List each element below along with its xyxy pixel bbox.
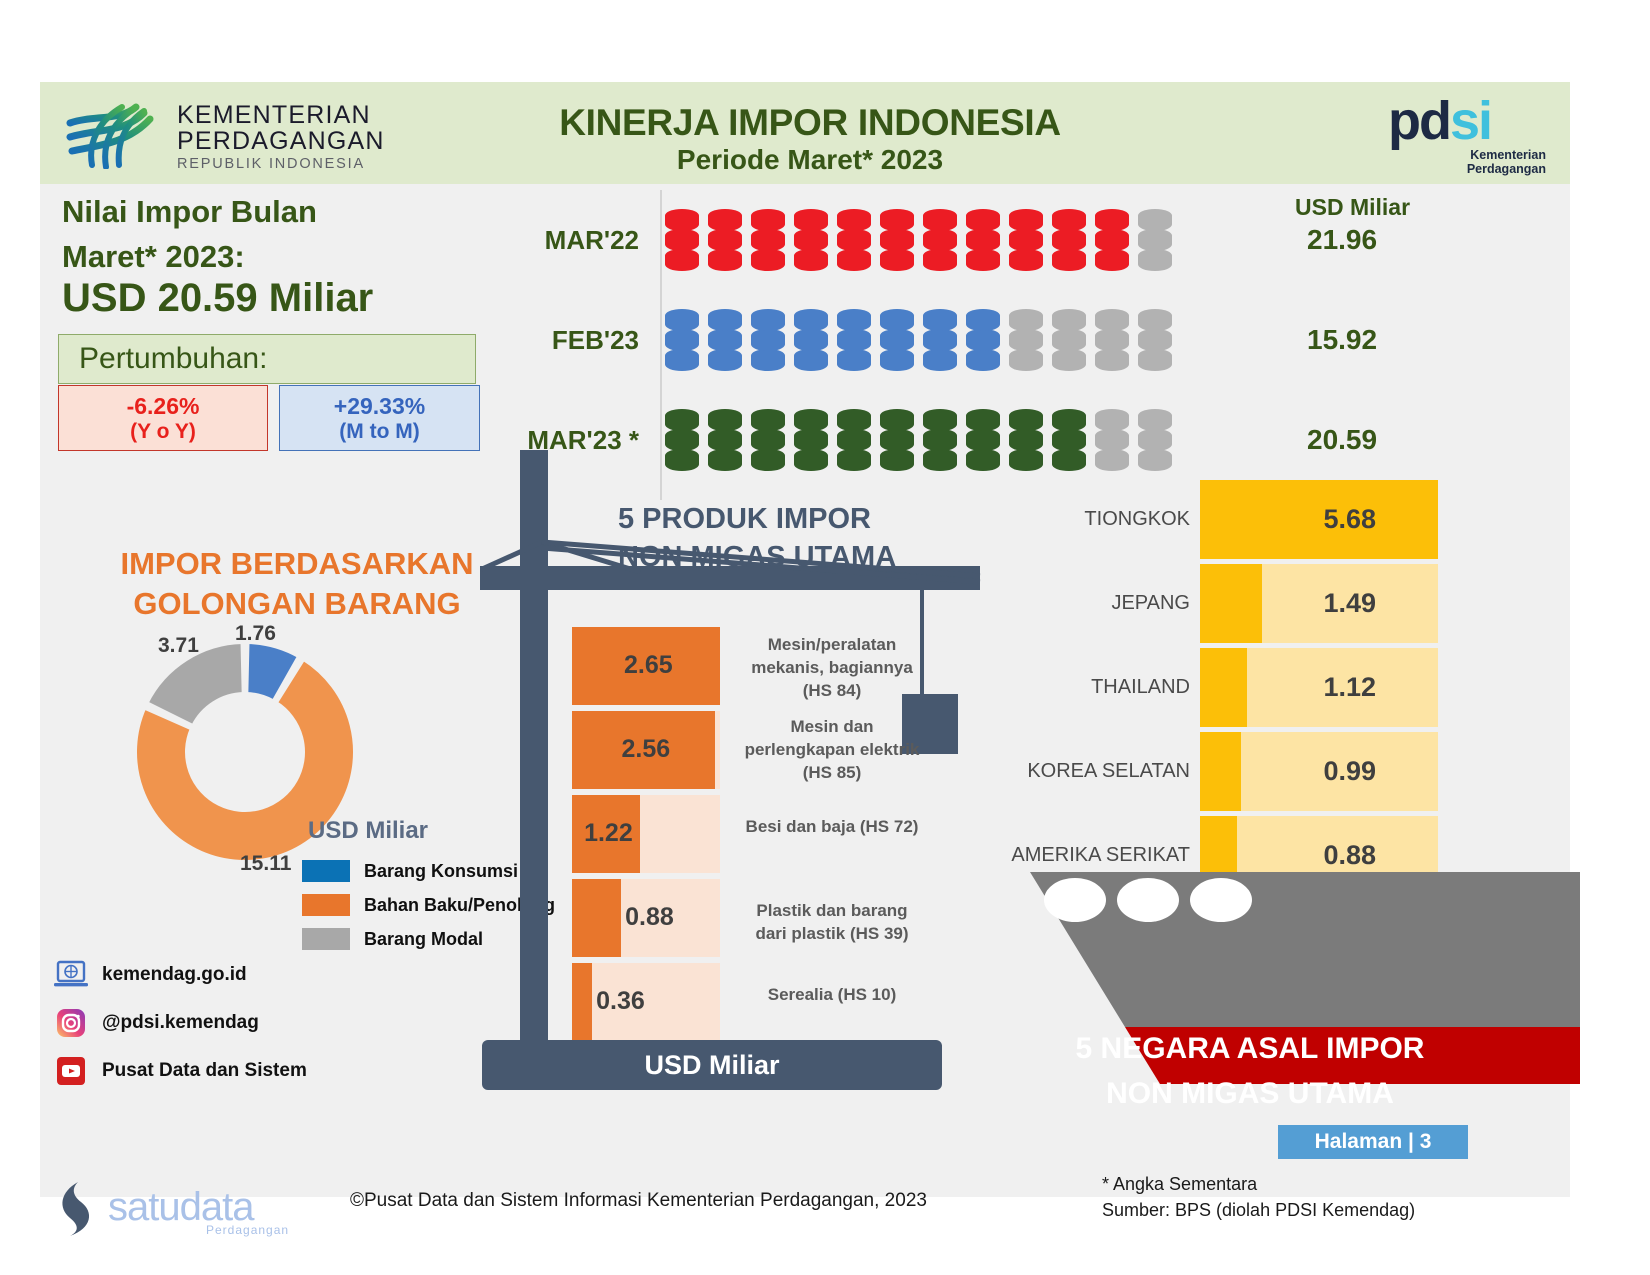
product-bar-label: Plastik dan barang dari plastik (HS 39) xyxy=(742,899,922,945)
barrel-icon xyxy=(1095,409,1129,471)
barrel-icon xyxy=(1009,409,1043,471)
barrel-icon xyxy=(966,309,1000,371)
barrel-group xyxy=(665,309,1285,371)
donut-label-konsumsi: 1.76 xyxy=(235,622,276,646)
barrel-icon xyxy=(665,309,699,371)
products-title-line2: NON MIGAS UTAMA xyxy=(618,538,998,576)
legend-swatch xyxy=(302,894,350,916)
barrel-row-value: 21.96 xyxy=(1285,224,1435,256)
product-bar-fill xyxy=(572,879,621,957)
barrel-icon xyxy=(923,409,957,471)
page-subtitle: Periode Maret* 2023 xyxy=(460,144,1160,176)
product-bar-row: 2.56Mesin dan perlengkapan elektrik (HS … xyxy=(572,711,972,789)
barrel-row: MAR'2221.96 xyxy=(500,190,1510,290)
barrel-icon xyxy=(1095,309,1129,371)
barrel-icon xyxy=(880,209,914,271)
countries-banner-subtitle: NON MIGAS UTAMA xyxy=(1050,1077,1450,1111)
barrel-chart: MAR'2221.96FEB'2315.92MAR'23 *20.59 xyxy=(500,190,1510,490)
country-name-label: KOREA SELATAN xyxy=(975,732,1190,811)
growth-yoy-box: -6.26% (Y o Y) xyxy=(58,385,268,451)
ministry-line3: REPUBLIK INDONESIA xyxy=(177,154,385,174)
legend-item: Barang Konsumsi xyxy=(302,854,555,888)
products-title-line1: 5 PRODUK IMPOR xyxy=(618,500,998,538)
country-bar-value: 5.68 xyxy=(1323,480,1376,559)
ship-banner-icon xyxy=(920,872,1580,1102)
barrel-icon xyxy=(837,209,871,271)
product-bar-label: Besi dan baja (HS 72) xyxy=(742,815,922,838)
pdsi-wordmark: pdsi xyxy=(1388,94,1548,148)
growth-header-box: Pertumbuhan: xyxy=(58,334,476,384)
donut-label-bahan-baku: 15.11 xyxy=(240,852,291,876)
barrel-icon xyxy=(837,409,871,471)
barrel-icon xyxy=(1138,209,1172,271)
donut-title-line1: IMPOR BERDASARKAN xyxy=(92,544,502,584)
country-bar-row: TIONGKOK5.68 xyxy=(1090,480,1390,559)
barrel-icon xyxy=(1052,309,1086,371)
barrel-icon xyxy=(708,409,742,471)
products-bar-chart: 2.65Mesin/peralatan mekanis, bagiannya (… xyxy=(572,627,972,1047)
country-bar-fill xyxy=(1200,480,1438,559)
country-bar-row: KOREA SELATAN0.99 xyxy=(1090,732,1390,811)
barrel-icon xyxy=(794,409,828,471)
website-icon xyxy=(54,960,88,990)
barrel-icon xyxy=(751,309,785,371)
import-value-line2: Maret* 2023: xyxy=(62,239,245,275)
country-bar-value: 0.99 xyxy=(1323,732,1376,811)
product-bar-track xyxy=(572,963,720,1041)
countries-bar-chart: TIONGKOK5.68JEPANG1.49THAILAND1.12KOREA … xyxy=(1090,480,1390,900)
donut-chart-title: IMPOR BERDASARKAN GOLONGAN BARANG xyxy=(92,544,502,624)
growth-label: Pertumbuhan: xyxy=(79,342,267,376)
social-link[interactable]: @pdsi.kemendag xyxy=(54,1002,307,1044)
page-title: KINERJA IMPOR INDONESIA xyxy=(460,102,1160,144)
barrel-icon xyxy=(880,309,914,371)
youtube-icon xyxy=(54,1056,88,1086)
country-name-label: THAILAND xyxy=(975,648,1190,727)
barrel-icon xyxy=(923,209,957,271)
page-number-badge: Halaman | 3 xyxy=(1278,1125,1468,1159)
ministry-wordmark: KEMENTERIAN PERDAGANGAN REPUBLIK INDONES… xyxy=(177,103,385,174)
footer-copyright: ©Pusat Data dan Sistem Informasi Kemente… xyxy=(350,1190,927,1212)
barrel-row: MAR'23 *20.59 xyxy=(500,390,1510,490)
country-bar-value: 1.12 xyxy=(1323,648,1376,727)
pdsi-pd-text: pd xyxy=(1388,91,1450,151)
barrel-icon xyxy=(665,209,699,271)
growth-mtm-box: +29.33% (M to M) xyxy=(279,385,480,451)
growth-mtm-label: (M to M) xyxy=(339,419,419,444)
legend-swatch xyxy=(302,928,350,950)
satudata-logo: satudata Perdagangan xyxy=(50,1178,340,1238)
barrel-icon xyxy=(923,309,957,371)
ministry-line1: KEMENTERIAN xyxy=(177,103,385,128)
pdsi-sub2: Perdagangan xyxy=(1388,162,1546,176)
social-link-label: kemendag.go.id xyxy=(102,964,247,986)
product-bar-value: 2.65 xyxy=(624,651,673,680)
social-link[interactable]: Pusat Data dan Sistem xyxy=(54,1050,307,1092)
country-bar-row: JEPANG1.49 xyxy=(1090,564,1390,643)
legend-item: Barang Modal xyxy=(302,922,555,956)
import-value-line1: Nilai Impor Bulan xyxy=(62,194,317,230)
social-link[interactable]: kemendag.go.id xyxy=(54,954,307,996)
growth-yoy-label: (Y o Y) xyxy=(130,419,196,444)
barrel-icon xyxy=(837,309,871,371)
barrel-icon xyxy=(1052,209,1086,271)
barrel-icon xyxy=(880,409,914,471)
pdsi-logo: pdsi Kementerian Perdagangan xyxy=(1388,94,1548,174)
instagram-icon xyxy=(54,1008,88,1038)
products-axis-label: USD Miliar xyxy=(482,1040,942,1090)
growth-mtm-value: +29.33% xyxy=(334,393,425,419)
pdsi-si-text: si xyxy=(1450,91,1491,151)
product-bar-label: Mesin/peralatan mekanis, bagiannya (HS 8… xyxy=(742,633,922,702)
barrel-icon xyxy=(1009,209,1043,271)
social-links: kemendag.go.id@pdsi.kemendagPusat Data d… xyxy=(54,954,307,1098)
product-bar-fill xyxy=(572,963,592,1041)
import-value-amount: USD 20.59 Miliar xyxy=(62,276,373,321)
social-link-label: @pdsi.kemendag xyxy=(102,1012,259,1034)
barrel-row-label: FEB'23 xyxy=(500,325,665,356)
barrel-group xyxy=(665,209,1285,271)
country-name-label: TIONGKOK xyxy=(975,480,1190,559)
products-chart-title: 5 PRODUK IMPOR NON MIGAS UTAMA xyxy=(618,500,998,576)
svg-text:Perdagangan: Perdagangan xyxy=(206,1223,289,1237)
country-bar-fill xyxy=(1200,564,1262,643)
barrel-icon xyxy=(1138,409,1172,471)
barrel-row: FEB'2315.92 xyxy=(500,290,1510,390)
country-bar-fill xyxy=(1200,648,1247,727)
kemendag-logo-icon xyxy=(62,99,172,169)
infographic-canvas: KEMENTERIAN PERDAGANGAN REPUBLIK INDONES… xyxy=(40,82,1570,1197)
donut-title-line2: GOLONGAN BARANG xyxy=(92,584,502,624)
product-bar-row: 1.22Besi dan baja (HS 72) xyxy=(572,795,972,873)
product-bar-label: Mesin dan perlengkapan elektrik (HS 85) xyxy=(742,715,922,784)
product-bar-value: 1.22 xyxy=(584,819,633,848)
country-name-label: JEPANG xyxy=(975,564,1190,643)
country-bar-value: 1.49 xyxy=(1323,564,1376,643)
barrel-icon xyxy=(751,409,785,471)
product-bar-row: 0.88Plastik dan barang dari plastik (HS … xyxy=(572,879,972,957)
product-bar-value: 2.56 xyxy=(621,735,670,764)
legend-label: Barang Modal xyxy=(364,929,483,950)
barrel-icon xyxy=(966,409,1000,471)
barrel-row-value: 15.92 xyxy=(1285,324,1435,356)
growth-yoy-value: -6.26% xyxy=(127,393,200,419)
barrel-icon xyxy=(1009,309,1043,371)
barrel-icon xyxy=(1138,309,1172,371)
footer-note-source: Sumber: BPS (diolah PDSI Kemendag) xyxy=(1102,1200,1415,1221)
product-bar-row: 2.65Mesin/peralatan mekanis, bagiannya (… xyxy=(572,627,972,705)
product-bar-row: 0.36Serealia (HS 10) xyxy=(572,963,972,1041)
barrel-icon xyxy=(708,209,742,271)
social-link-label: Pusat Data dan Sistem xyxy=(102,1060,307,1082)
product-bar-value: 0.36 xyxy=(596,987,645,1016)
product-bar-label: Serealia (HS 10) xyxy=(742,983,922,1006)
barrel-row-label: MAR'22 xyxy=(500,225,665,256)
barrel-group xyxy=(665,409,1285,471)
countries-banner-title: 5 NEGARA ASAL IMPOR xyxy=(1050,1032,1450,1066)
ministry-line2: PERDAGANGAN xyxy=(177,128,385,154)
barrel-icon xyxy=(794,309,828,371)
country-bar-fill xyxy=(1200,732,1241,811)
infographic-page: KEMENTERIAN PERDAGANGAN REPUBLIK INDONES… xyxy=(0,0,1650,1275)
donut-legend: Barang KonsumsiBahan Baku/PenolongBarang… xyxy=(302,854,555,956)
barrel-icon xyxy=(751,209,785,271)
barrel-icon xyxy=(1095,209,1129,271)
barrel-icon xyxy=(966,209,1000,271)
donut-unit-label: USD Miliar xyxy=(308,817,428,845)
legend-label: Barang Konsumsi xyxy=(364,861,518,882)
legend-item: Bahan Baku/Penolong xyxy=(302,888,555,922)
barrel-icon xyxy=(665,409,699,471)
barrel-icon xyxy=(794,209,828,271)
donut-label-modal: 3.71 xyxy=(158,634,199,658)
barrel-icon xyxy=(1052,409,1086,471)
barrel-icon xyxy=(708,309,742,371)
legend-swatch xyxy=(302,860,350,882)
country-bar-row: THAILAND1.12 xyxy=(1090,648,1390,727)
product-bar-value: 0.88 xyxy=(625,903,674,932)
footer-note-provisional: * Angka Sementara xyxy=(1102,1174,1257,1195)
barrel-row-value: 20.59 xyxy=(1285,424,1435,456)
